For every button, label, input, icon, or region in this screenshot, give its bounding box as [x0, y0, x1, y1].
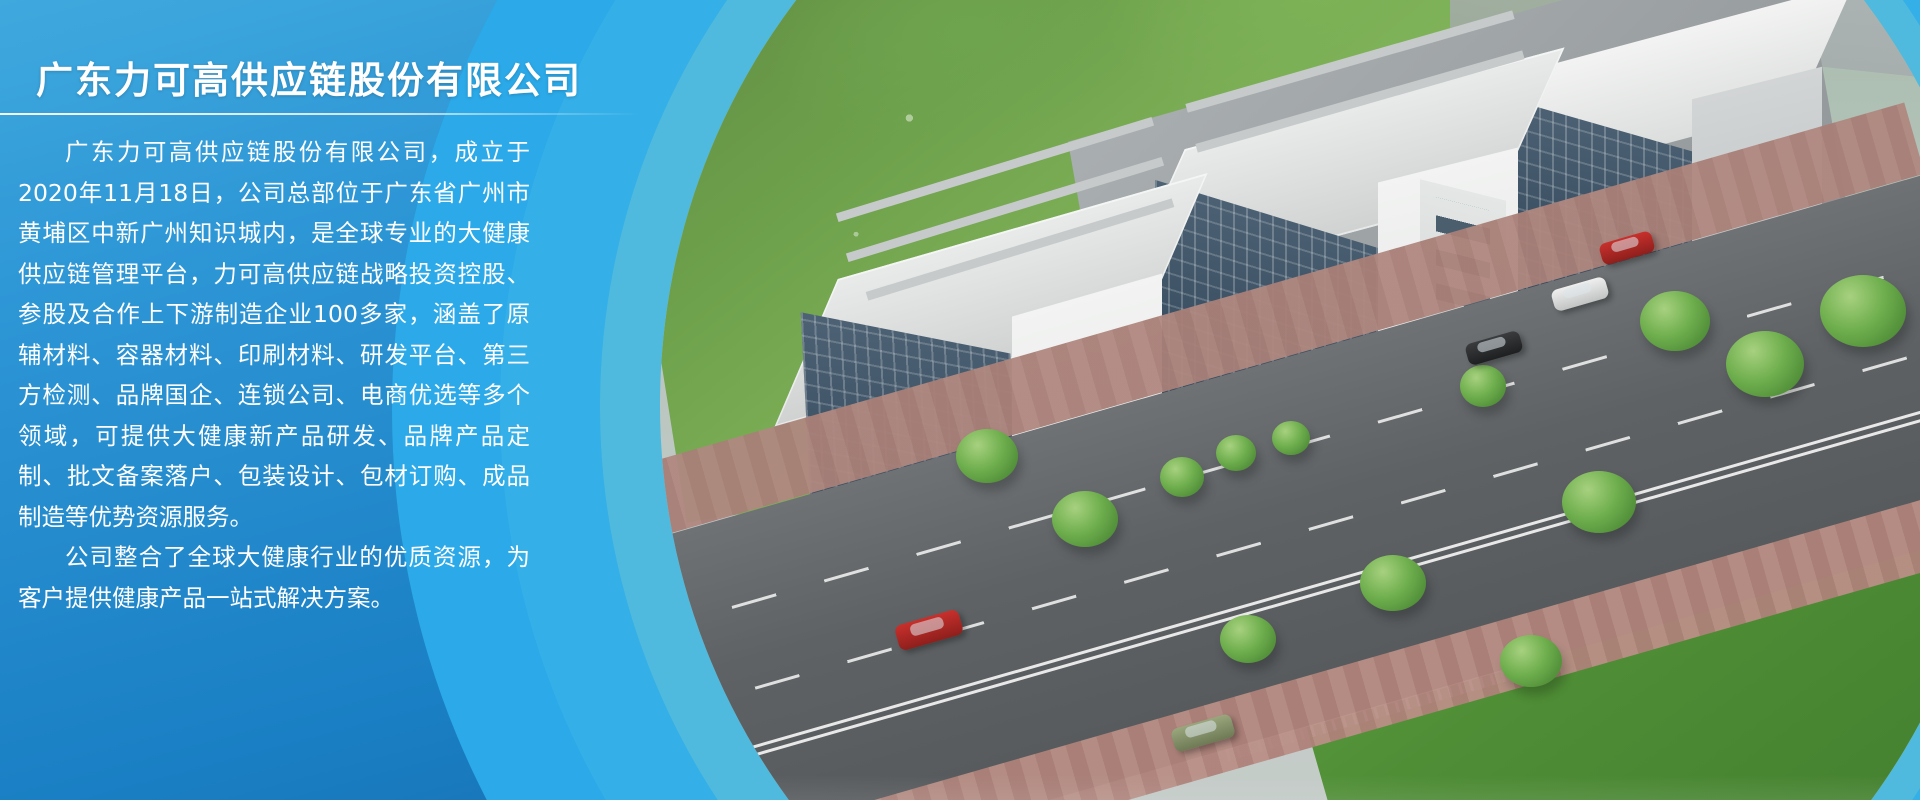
photo-tree: [1726, 331, 1804, 397]
photo-tree: [1052, 491, 1118, 547]
photo-tree: [1820, 275, 1906, 347]
photo-tree: [1360, 555, 1426, 611]
facility-photo: 力可高供应链产业园: [660, 0, 1920, 800]
description-paragraph-1: 广东力可高供应链股份有限公司，成立于2020年11月18日，公司总部位于广东省广…: [18, 132, 530, 537]
page-title: 广东力可高供应链股份有限公司: [36, 50, 582, 104]
photo-bottom-haze: [660, 775, 1920, 800]
company-profile-banner: 力可高供应链产业园: [0, 0, 1920, 800]
company-description: 广东力可高供应链股份有限公司，成立于2020年11月18日，公司总部位于广东省广…: [18, 132, 530, 618]
photo-tree: [1500, 635, 1562, 687]
photo-tree: [1160, 457, 1204, 497]
photo-tree: [1640, 291, 1710, 351]
photo-tree: [1562, 471, 1636, 533]
description-paragraph-2: 公司整合了全球大健康行业的优质资源，为客户提供健康产品一站式解决方案。: [18, 537, 530, 618]
text-panel: 广东力可高供应链股份有限公司 广东力可高供应链股份有限公司，成立于2020年11…: [0, 0, 700, 800]
photo-tree: [1216, 435, 1256, 471]
photo-tree: [1460, 365, 1506, 407]
photo-tree: [1272, 421, 1310, 455]
photo-tree: [1220, 615, 1276, 663]
photo-tree: [956, 429, 1018, 483]
title-divider: [0, 113, 640, 115]
